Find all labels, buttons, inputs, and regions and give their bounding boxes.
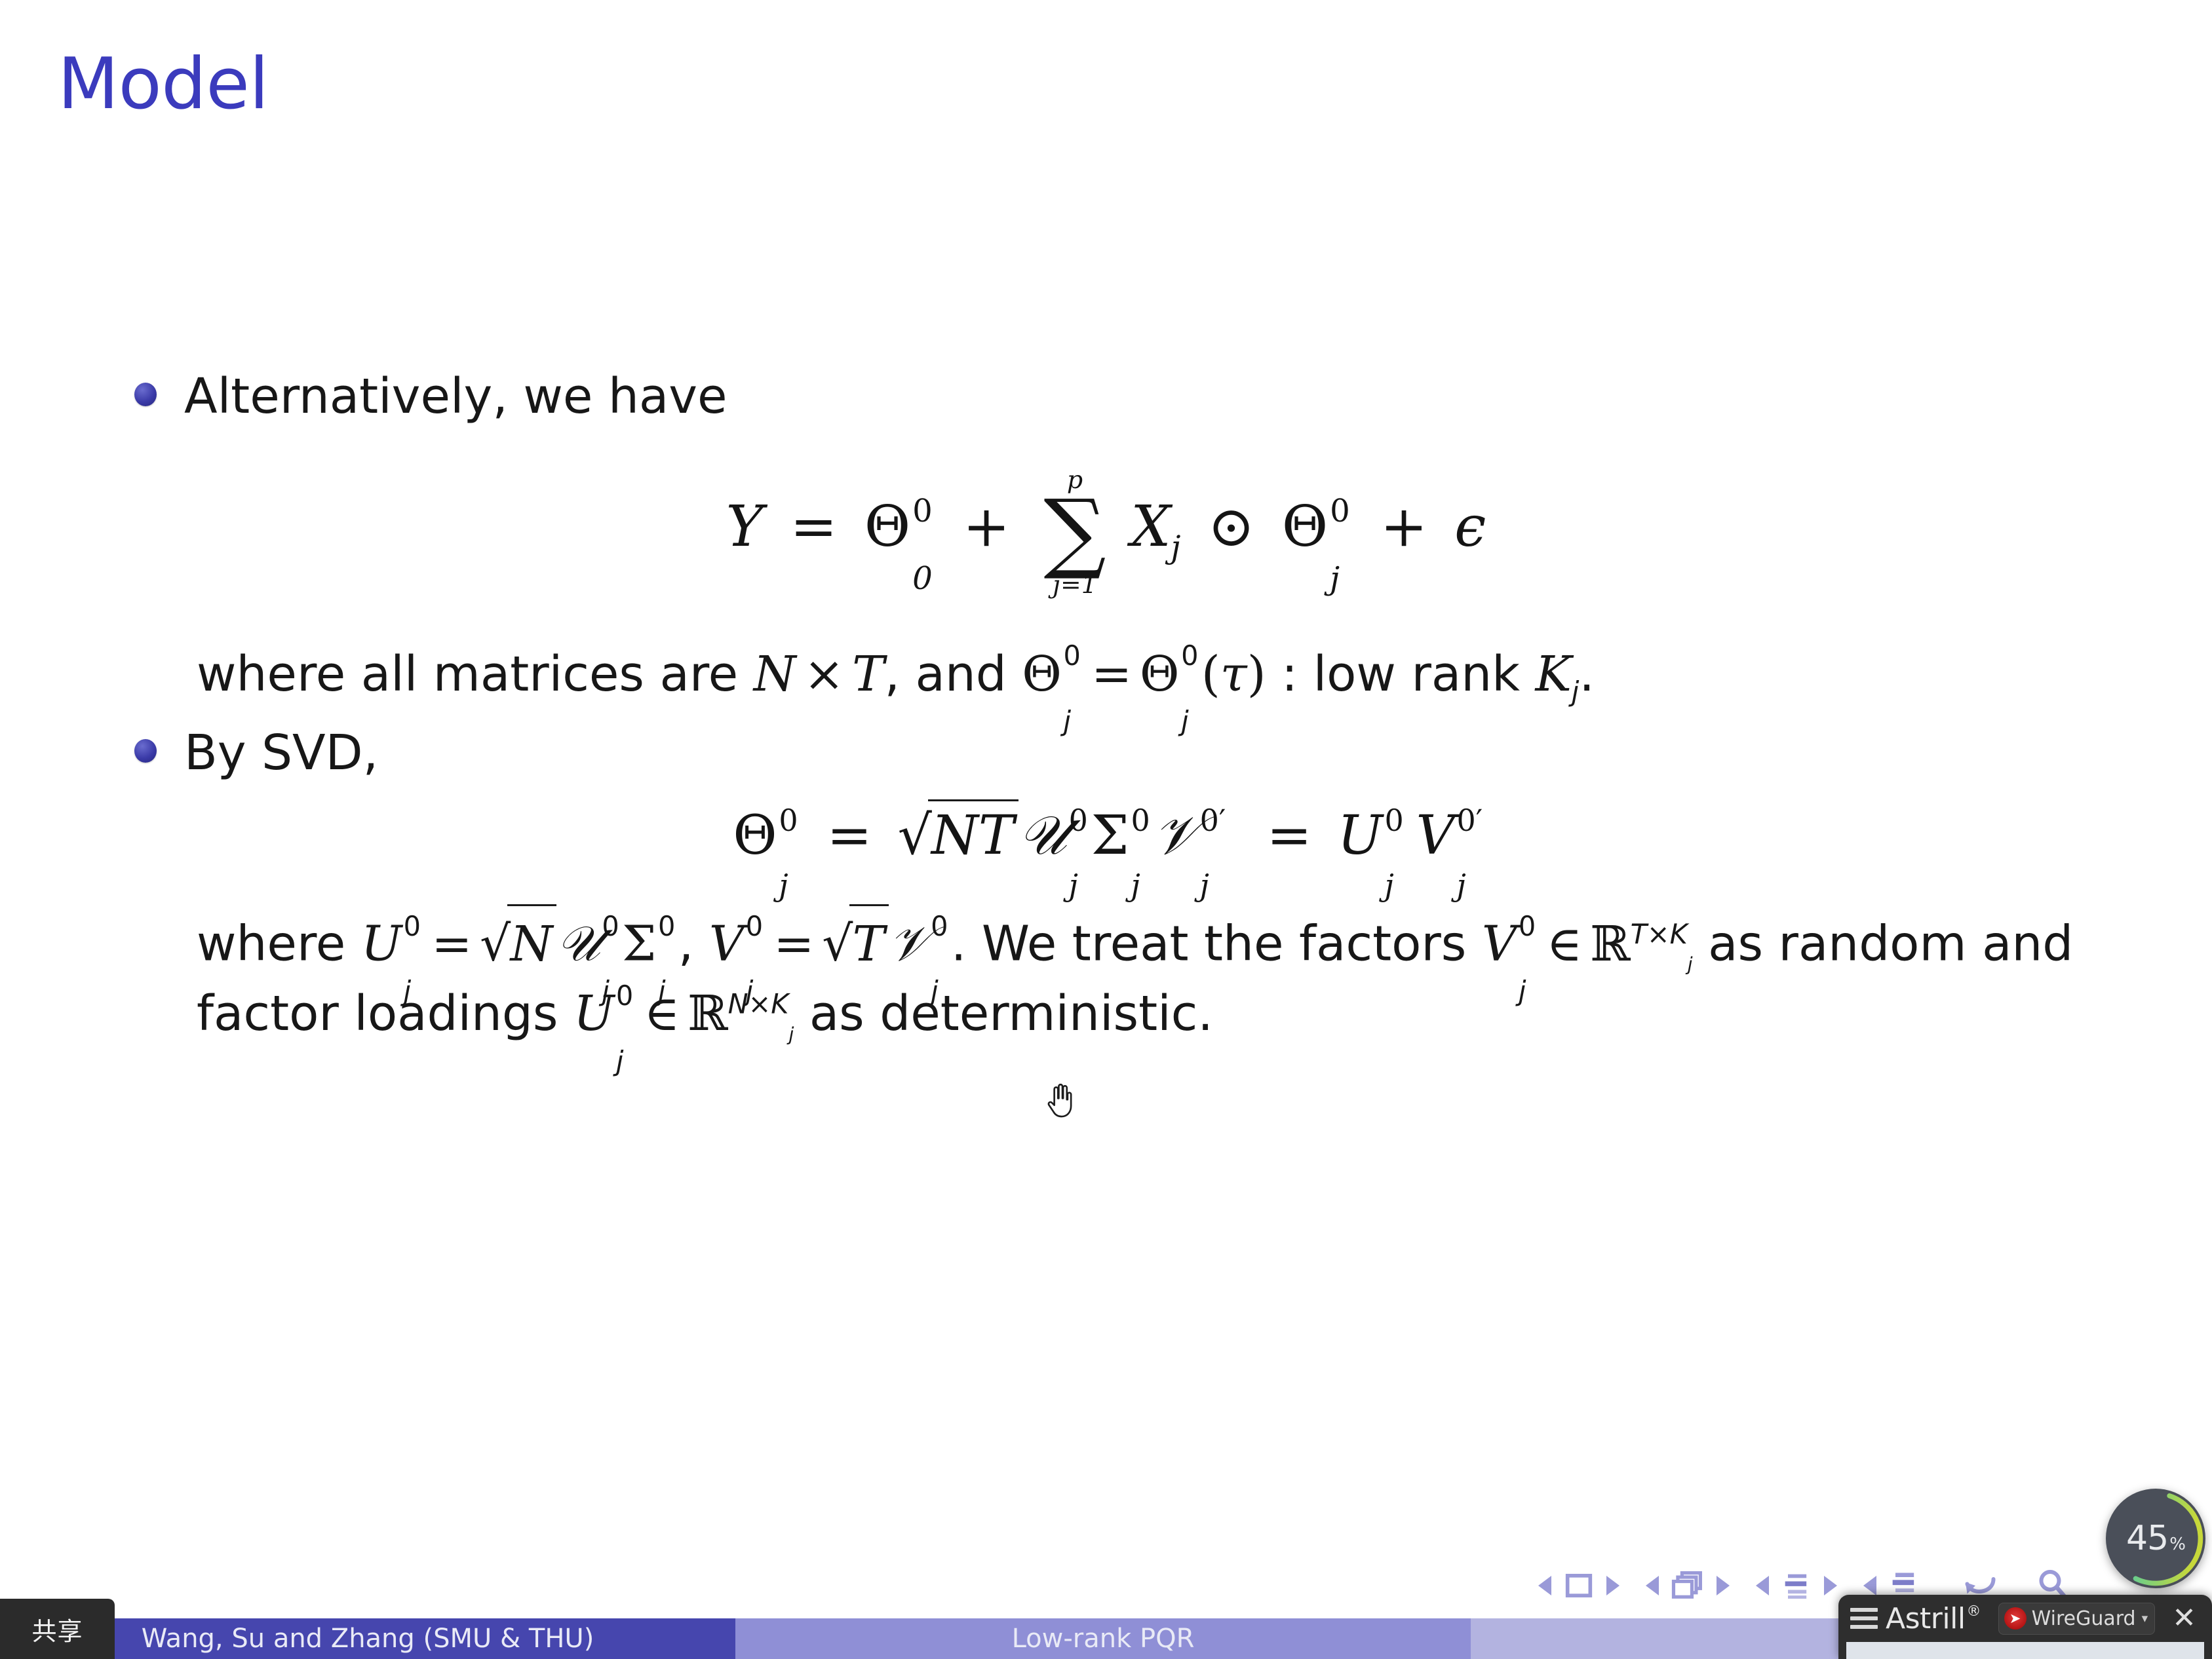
comma-1: , (678, 916, 709, 972)
presentation-slide: Model Alternatively, we have Y = Θ00 + p… (0, 0, 2212, 1659)
progress-unit: % (2169, 1535, 2185, 1554)
sub: j (1457, 868, 1466, 903)
sub: j (779, 868, 788, 903)
svd-lhs-base: Θ (733, 805, 777, 867)
close-icon[interactable]: ✕ (2163, 1604, 2203, 1633)
theta2-base: Θ (1140, 646, 1180, 702)
sub: j (746, 972, 754, 1012)
hand-cursor-icon (1045, 1081, 1076, 1120)
equation-model: Y = Θ00 + p ∑ j=1 Xj ⊙ Θ0j + ϵ (0, 467, 2212, 596)
sup: 0 (1181, 637, 1198, 676)
exponent-TxK: T×K (1631, 919, 1688, 950)
sup: 0 (1330, 493, 1350, 529)
where-factors-text: where U0j=√N𝒰0jΣ0j, V0j=√T𝒱0j. We treat … (0, 904, 2212, 1049)
we-treat-text: . We treat the factors (951, 916, 1482, 972)
prev-subsection-icon[interactable] (1756, 1576, 1769, 1595)
sqrt-N: √N (480, 904, 556, 979)
times-sign: × (796, 646, 852, 702)
next-frame-icon[interactable] (1717, 1576, 1730, 1595)
sup: 0 (931, 907, 948, 947)
var-K-sub: j (1572, 676, 1580, 707)
radicand: T (849, 904, 889, 979)
svd-equals-1: = (819, 805, 881, 867)
astrill-vpn-widget[interactable]: Astrill® ➤ WireGuard ▾ ✕ (1838, 1595, 2212, 1659)
sub: j (1330, 560, 1340, 597)
eq-model-x-sub: j (1171, 529, 1181, 566)
var-V: V (709, 916, 744, 972)
bullet-label: Alternatively, we have (184, 367, 728, 426)
sup: 0 (616, 977, 633, 1016)
sup: 0 (1069, 803, 1088, 838)
sqrt-NT: √NT (898, 799, 1019, 867)
eq-model-lhs: Y (726, 494, 764, 560)
slide-body: Alternatively, we have Y = Θ00 + p ∑ j=1… (0, 367, 2212, 1049)
eq-model-equals: = (781, 494, 847, 560)
sub: j (616, 1042, 624, 1082)
astrill-titlebar[interactable]: Astrill® ➤ WireGuard ▾ ✕ (1838, 1595, 2212, 1642)
sub: j (1069, 868, 1078, 903)
progress-value: 45 (2126, 1519, 2168, 1558)
radical-glyph: √ (822, 916, 853, 972)
calV-base: 𝒱 (889, 916, 929, 972)
sup: 0′ (1200, 803, 1226, 838)
radical-glyph: √ (898, 805, 932, 867)
bullet-dot-icon (134, 739, 157, 763)
lowrank-text: : low rank (1266, 646, 1536, 702)
subsection-lines-icon[interactable] (1779, 1569, 1814, 1603)
eq-model-x-base: X (1131, 494, 1171, 560)
sup: 0 (404, 907, 421, 947)
sub: j (931, 972, 939, 1012)
exponent-TxK-sub: j (1688, 954, 1693, 976)
svd-U-base: U (1338, 805, 1383, 867)
svd-calV-base: 𝒱 (1154, 805, 1198, 867)
equals-V: = (766, 916, 823, 972)
eq-model-plus: + (954, 494, 1019, 560)
protocol-label: WireGuard (2032, 1607, 2136, 1630)
var-T: T (852, 646, 884, 702)
where2-pre: where (197, 916, 361, 972)
screen-share-chip[interactable]: 共享 (0, 1599, 115, 1659)
exponent-NxK: N×K (728, 989, 789, 1020)
next-subsection-icon[interactable] (1824, 1576, 1837, 1595)
sup: 0 (658, 907, 675, 947)
sqrt-T: √T (822, 904, 889, 979)
element-of-1: ∈ (1539, 916, 1590, 972)
eq-model-hadamard: ⊙ (1199, 494, 1264, 560)
radicand: N (507, 904, 556, 979)
summation-operator: p ∑ j=1 (1043, 468, 1106, 597)
equals-U: = (423, 916, 480, 972)
sub: 0 (912, 560, 933, 597)
paren-close: ) (1247, 646, 1266, 702)
as-deterministic-text: as deterministic. (794, 985, 1213, 1042)
progress-percent: 45% (2126, 1519, 2185, 1558)
wireguard-icon: ➤ (2004, 1607, 2027, 1630)
radicand: NT (928, 799, 1019, 867)
prev-frame-icon[interactable] (1646, 1576, 1659, 1595)
period: . (1579, 646, 1595, 702)
footer-title: Low-rank PQR (735, 1618, 1471, 1659)
eq-model-theta-base: Θ (1282, 494, 1329, 560)
paren-open: ( (1201, 646, 1220, 702)
nav-group-slide[interactable] (1538, 1569, 1620, 1603)
svd-sigma-base: Σ (1091, 805, 1129, 867)
sup: 0 (1063, 637, 1080, 676)
sup: 0 (912, 493, 933, 529)
sup: 0 (602, 907, 619, 947)
sigma-glyph: ∑ (1043, 491, 1106, 574)
astrill-brand-label: Astrill® (1886, 1602, 1981, 1635)
sum-lower-limit: j=1 (1053, 573, 1097, 598)
page-progress-badge[interactable]: 45% (2106, 1489, 2205, 1588)
radical-glyph: √ (480, 916, 511, 972)
astrill-name: Astrill (1886, 1602, 1966, 1635)
sub: j (1384, 868, 1393, 903)
sup: 0 (1519, 907, 1536, 947)
chevron-down-icon[interactable]: ▾ (2142, 1611, 2148, 1626)
var-N: N (754, 646, 796, 702)
Sigma-base: Σ (622, 916, 656, 972)
protocol-selector[interactable]: ➤ WireGuard ▾ (1998, 1603, 2156, 1635)
real-numbers-symbol-1: ℝ (1590, 909, 1631, 980)
sub: j (1200, 868, 1209, 903)
prev-slide-icon[interactable] (1538, 1576, 1551, 1595)
registered-mark-icon: ® (1967, 1603, 1981, 1620)
sup: 0′ (1457, 803, 1483, 838)
bullet-item-alternatively: Alternatively, we have (0, 367, 2212, 426)
var-K: K (1536, 646, 1572, 702)
equals-sign: = (1083, 646, 1140, 702)
next-slide-icon[interactable] (1606, 1576, 1620, 1595)
frames-stack-icon[interactable] (1669, 1569, 1706, 1603)
bullet-item-by-svd: By SVD, (0, 723, 2212, 782)
calU-base: 𝒰 (556, 916, 600, 972)
prev-section-icon[interactable] (1863, 1576, 1876, 1595)
sub: j (602, 972, 610, 1012)
where-mid: , and (884, 646, 1022, 702)
eq-model-plus2: + (1371, 494, 1437, 560)
nav-group-frame[interactable] (1646, 1569, 1730, 1603)
real-numbers-symbol-2: ℝ (688, 979, 728, 1049)
eq-model-intercept-base: Θ (864, 494, 911, 560)
sub: j (404, 972, 412, 1012)
bullet-label: By SVD, (184, 723, 378, 782)
where-pre: where all matrices are (197, 646, 754, 702)
astrill-panel-body (1846, 1642, 2204, 1659)
theta-base: Θ (1022, 646, 1062, 702)
sup: 0 (1131, 803, 1150, 838)
slide-frame-icon[interactable] (1562, 1569, 1596, 1603)
eq-model-noise: ϵ (1454, 494, 1486, 560)
sup: 0 (1384, 803, 1403, 838)
var-V2: V (1482, 916, 1517, 972)
hamburger-menu-icon[interactable] (1850, 1608, 1878, 1629)
sup: 0 (746, 907, 763, 947)
svd-equals-2: = (1258, 805, 1321, 867)
equation-svd: Θ0j = √NT𝒰0jΣ0j𝒱0′j = U0jV0′j (0, 799, 2212, 868)
sub: j (1131, 868, 1140, 903)
var-tau: τ (1220, 646, 1247, 702)
where-matrices-text: where all matrices are N×T, and Θ0j=Θ0j(… (0, 639, 2212, 712)
nav-group-subsection[interactable] (1756, 1569, 1837, 1603)
slide-title: Model (58, 47, 269, 121)
sub: j (1519, 972, 1526, 1012)
svd-calU-base: 𝒰 (1019, 805, 1067, 867)
var-U: U (361, 916, 402, 972)
bullet-dot-icon (134, 383, 157, 406)
sup: 0 (779, 803, 798, 838)
sub: j (658, 972, 666, 1012)
svd-V-base: V (1416, 805, 1455, 867)
